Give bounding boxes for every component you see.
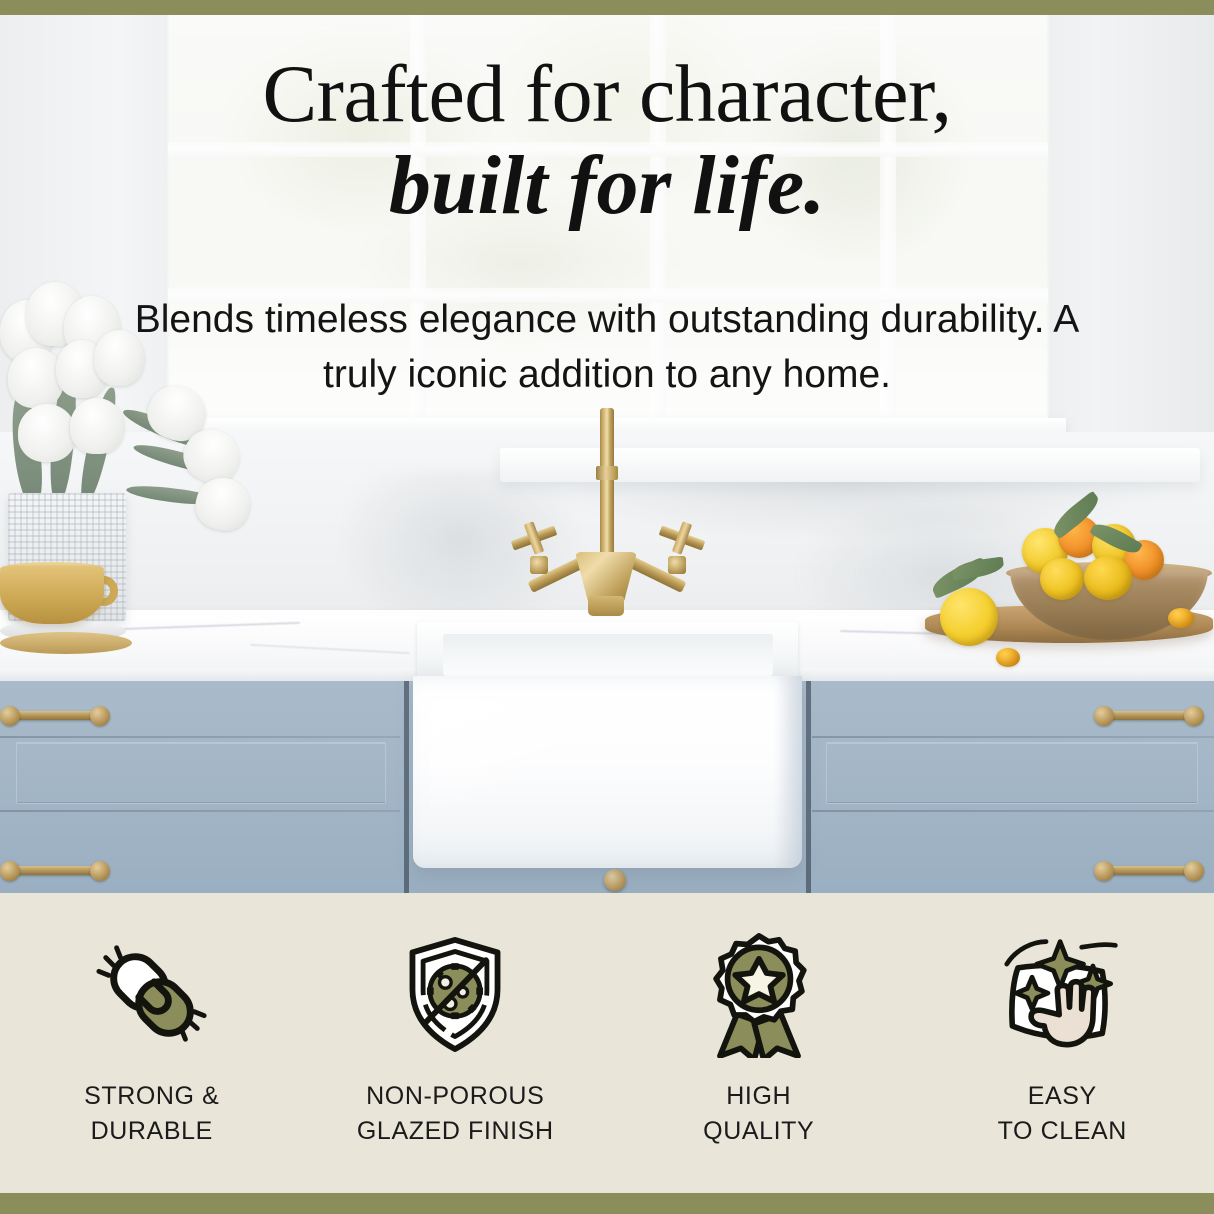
top-accent-rule (0, 0, 1214, 15)
cabinet-pull-rosette (0, 861, 20, 881)
cabinet-pull-rosette (1094, 861, 1114, 881)
headline-line-1: Crafted for character, (0, 52, 1214, 136)
faucet-nut-right (668, 556, 686, 574)
faucet-nut-left (530, 556, 548, 574)
cabinet-knob[interactable] (604, 869, 626, 891)
faucet-collar (596, 466, 618, 480)
feature-easy-to-clean: EASY TO CLEAN (911, 893, 1214, 1193)
cabinet-seam (812, 736, 1214, 738)
saucer (0, 632, 132, 654)
sink-highlight (430, 700, 550, 850)
promo-canvas: Crafted for character, built for life. B… (0, 0, 1214, 1214)
hand-wiping-cloth-sparkle-icon (987, 929, 1137, 1061)
cabinet-pull-rosette (1184, 861, 1204, 881)
cabinet-pull-rosette (90, 706, 110, 726)
shield-germ-blocked-icon (380, 929, 530, 1061)
cabinet-gap (404, 681, 409, 893)
cabinet-gap (806, 681, 811, 893)
feature-label: STRONG & DURABLE (84, 1079, 219, 1148)
cabinet-seam (0, 736, 400, 738)
cabinet-pull-rosette (90, 861, 110, 881)
cabinet-panel[interactable] (16, 742, 386, 804)
cabinet-pull-rosette (0, 706, 20, 726)
feature-band: STRONG & DURABLE (0, 893, 1214, 1193)
award-rosette-star-icon (684, 929, 834, 1061)
kumquat (996, 648, 1020, 667)
chain-link-icon (77, 929, 227, 1061)
feature-label: NON-POROUS GLAZED FINISH (357, 1079, 554, 1148)
citrus-fruit (1040, 558, 1084, 600)
cabinet-pull-rosette (1184, 706, 1204, 726)
feature-label: EASY TO CLEAN (998, 1079, 1127, 1148)
cabinet-panel[interactable] (826, 742, 1198, 804)
headline-line-2: built for life. (0, 136, 1214, 235)
teacup (0, 566, 104, 624)
faucet-spout (600, 408, 614, 576)
kumquat (1168, 608, 1194, 628)
tulip-bloom (70, 398, 124, 454)
headline-block: Crafted for character, built for life. (0, 52, 1214, 235)
cabinet-seam (812, 810, 1214, 812)
tulip-bloom (18, 404, 76, 462)
cabinet-pull-rosette (1094, 706, 1114, 726)
subheadline: Blends timeless elegance with outstandin… (0, 292, 1214, 403)
feature-non-porous: NON-POROUS GLAZED FINISH (304, 893, 608, 1193)
feature-label: HIGH QUALITY (703, 1079, 814, 1148)
sink-basin (443, 634, 773, 676)
bottom-accent-rule (0, 1193, 1214, 1214)
cabinet-seam (0, 810, 400, 812)
citrus-fruit (1084, 556, 1132, 600)
feature-high-quality: HIGH QUALITY (607, 893, 911, 1193)
citrus-fruit (940, 588, 998, 646)
feature-strong-durable: STRONG & DURABLE (0, 893, 304, 1193)
faucet-base (588, 596, 624, 616)
